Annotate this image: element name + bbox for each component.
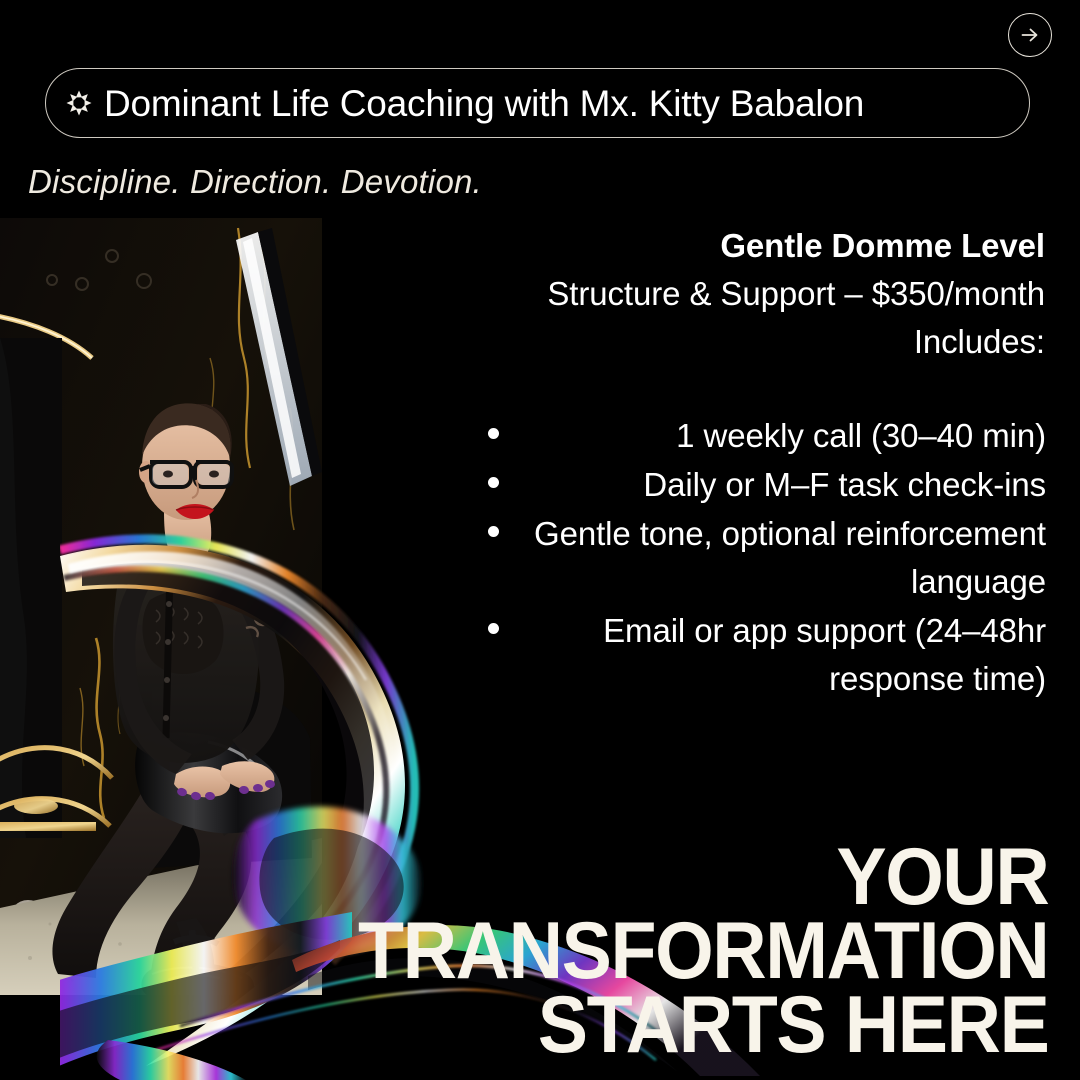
- list-item-label: Gentle tone, optional reinforcement lang…: [506, 510, 1046, 606]
- offer-level: Gentle Domme Level: [485, 222, 1045, 270]
- arrow-right-icon: [1018, 23, 1042, 47]
- next-button[interactable]: [1008, 13, 1052, 57]
- bullet-dot-icon: [480, 412, 506, 439]
- list-item: Gentle tone, optional reinforcement lang…: [480, 510, 1046, 606]
- list-item-label: Daily or M–F task check-ins: [506, 461, 1046, 509]
- bullet-dot-icon: [480, 461, 506, 488]
- bullet-dot-icon: [480, 607, 506, 634]
- offer-includes-label: Includes:: [485, 318, 1045, 366]
- headline: YOUR TRANSFORMATION STARTS HERE: [306, 840, 1048, 1062]
- offer-summary: Gentle Domme Level Structure & Support –…: [485, 222, 1045, 366]
- headline-line-2: TRANSFORMATION: [358, 914, 1048, 988]
- offer-price: Structure & Support – $350/month: [485, 270, 1045, 318]
- headline-line-1: YOUR: [358, 840, 1048, 914]
- list-item: Email or app support (24–48hr response t…: [480, 607, 1046, 703]
- headline-line-3: STARTS HERE: [358, 988, 1048, 1062]
- tagline: Discipline. Direction. Devotion.: [28, 163, 482, 201]
- list-item: 1 weekly call (30–40 min): [480, 412, 1046, 460]
- page-title: Dominant Life Coaching with Mx. Kitty Ba…: [104, 85, 864, 122]
- offer-bullet-list: 1 weekly call (30–40 min) Daily or M–F t…: [480, 412, 1046, 704]
- list-item: Daily or M–F task check-ins: [480, 461, 1046, 509]
- poster-canvas: Dominant Life Coaching with Mx. Kitty Ba…: [0, 0, 1080, 1080]
- title-pill: Dominant Life Coaching with Mx. Kitty Ba…: [45, 68, 1030, 138]
- list-item-label: Email or app support (24–48hr response t…: [506, 607, 1046, 703]
- sunburst-icon: [64, 88, 94, 118]
- list-item-label: 1 weekly call (30–40 min): [506, 412, 1046, 460]
- bullet-dot-icon: [480, 510, 506, 537]
- portrait-photo: [0, 218, 322, 995]
